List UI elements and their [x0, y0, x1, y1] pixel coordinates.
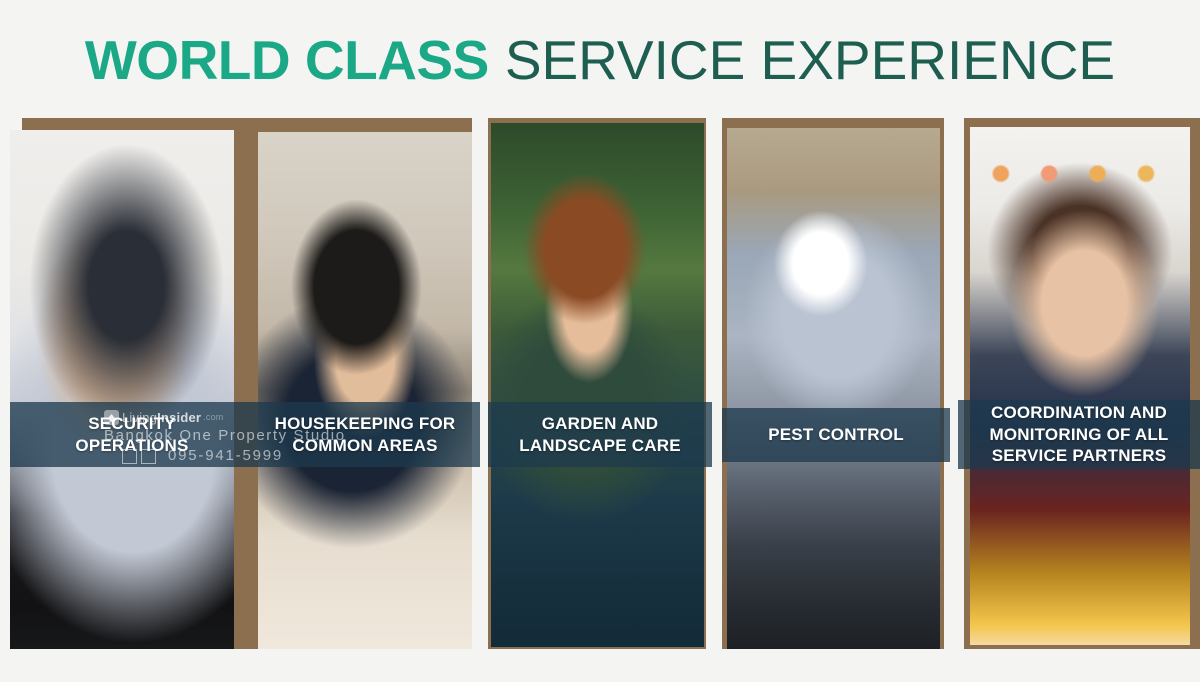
- card-label-text: GARDEN AND LANDSCAPE CARE: [519, 413, 680, 456]
- service-card-garden[interactable]: GARDEN AND LANDSCAPE CARE: [488, 118, 712, 649]
- security-guard-photo: [10, 130, 234, 649]
- service-card-coordination[interactable]: COORDINATION AND MONITORING OF ALL SERVI…: [958, 118, 1200, 649]
- page-title-strong: WORLD CLASS: [85, 29, 489, 91]
- service-card-security[interactable]: SECURITY OPERATIONS: [10, 118, 254, 649]
- card-label-housekeeping: HOUSEKEEPING FOR COMMON AREAS: [250, 402, 480, 467]
- card-label-text: PEST CONTROL: [768, 424, 904, 445]
- gardener-photo: [491, 123, 704, 647]
- housekeeping-staff-photo: [258, 132, 472, 649]
- page-title-light: SERVICE EXPERIENCE: [505, 29, 1115, 91]
- card-label-security: SECURITY OPERATIONS: [10, 402, 254, 467]
- service-card-strip: SECURITY OPERATIONS HOUSEKEEPING FOR COM…: [0, 118, 1200, 653]
- pest-control-technician-photo: [727, 128, 940, 649]
- service-coordinator-photo: [970, 127, 1190, 645]
- card-label-text: HOUSEKEEPING FOR COMMON AREAS: [275, 413, 456, 456]
- card-label-text: COORDINATION AND MONITORING OF ALL SERVI…: [989, 402, 1168, 466]
- card-label-pest-control: PEST CONTROL: [722, 408, 950, 462]
- service-card-pest-control[interactable]: PEST CONTROL: [722, 118, 950, 649]
- card-label-coordination: COORDINATION AND MONITORING OF ALL SERVI…: [958, 400, 1200, 469]
- card-label-text: SECURITY OPERATIONS: [75, 413, 188, 456]
- service-card-housekeeping[interactable]: HOUSEKEEPING FOR COMMON AREAS: [250, 118, 480, 649]
- page-title: WORLD CLASSSERVICE EXPERIENCE: [0, 33, 1200, 88]
- card-label-garden: GARDEN AND LANDSCAPE CARE: [488, 402, 712, 467]
